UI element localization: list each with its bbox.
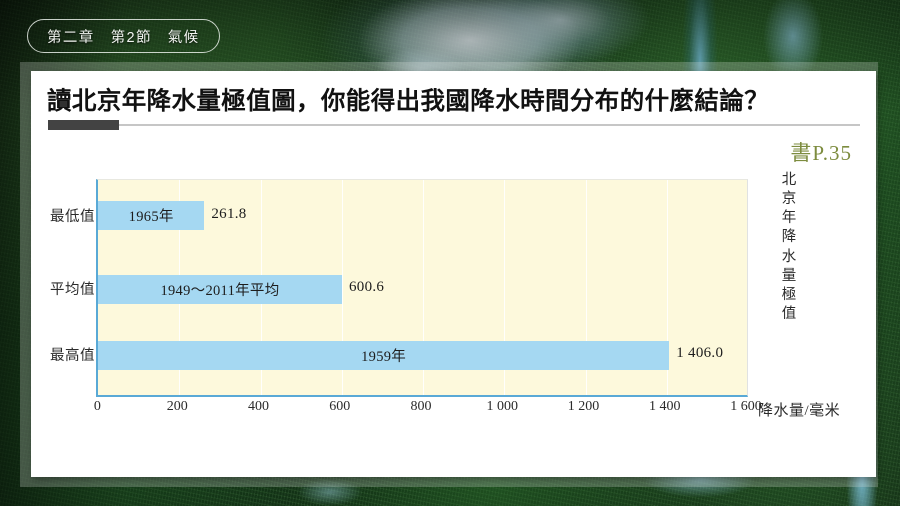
category-label: 最低值 [37,205,95,226]
x-axis-title: 降水量/毫米 [758,399,840,420]
x-axis-ticks: 02004006008001 0001 2001 4001 600 [96,399,748,421]
page-title: 讀北京年降水量極值圖，你能得出我國降水時間分布的什麼結論？ [47,82,857,117]
bar-min: 1965年 [98,201,204,230]
bar-inner-label: 1959年 [361,345,406,366]
chapter-badge-label: 第二章 第2節 氣候 [47,26,200,47]
x-tick-label: 800 [411,399,432,415]
bar-average: 1949～2011年平均 [98,275,342,304]
x-tick-label: 600 [329,399,350,415]
x-tick-label: 1 400 [649,399,681,415]
bar-chart: 最低值 平均值 最高值 1965年 1949～2011年平均 [31,171,876,471]
x-tick-label: 1 000 [487,399,519,415]
gridline [748,180,749,395]
bar-inner-label: 1965年 [129,205,174,226]
title-divider-line [48,124,860,126]
chart-title: 北京年降水量極值 [776,171,802,324]
x-tick-label: 1 200 [568,399,600,415]
category-label: 最高值 [37,344,95,365]
bar-value-label: 261.8 [211,206,246,223]
bar-value-label: 600.6 [349,279,384,296]
bar-max: 1959年 [98,341,669,370]
category-label: 平均值 [37,278,95,299]
plot-area: 1965年 1949～2011年平均 1959年 261.8 600.6 1 4… [96,179,748,397]
x-tick-label: 200 [167,399,188,415]
chapter-badge: 第二章 第2節 氣候 [27,19,220,53]
content-card: 讀北京年降水量極值圖，你能得出我國降水時間分布的什麼結論？ 書P.35 最低值 … [31,71,876,477]
bar-inner-label: 1949～2011年平均 [160,279,279,300]
title-divider-accent [48,120,119,130]
slide: 第二章 第2節 氣候 讀北京年降水量極值圖，你能得出我國降水時間分布的什麼結論？… [0,0,900,506]
category-axis-labels: 最低值 平均值 最高值 [37,179,95,397]
x-tick-label: 0 [94,399,101,415]
book-reference: 書P.35 [790,137,852,167]
bar-value-label: 1 406.0 [676,345,723,362]
x-tick-label: 400 [248,399,269,415]
